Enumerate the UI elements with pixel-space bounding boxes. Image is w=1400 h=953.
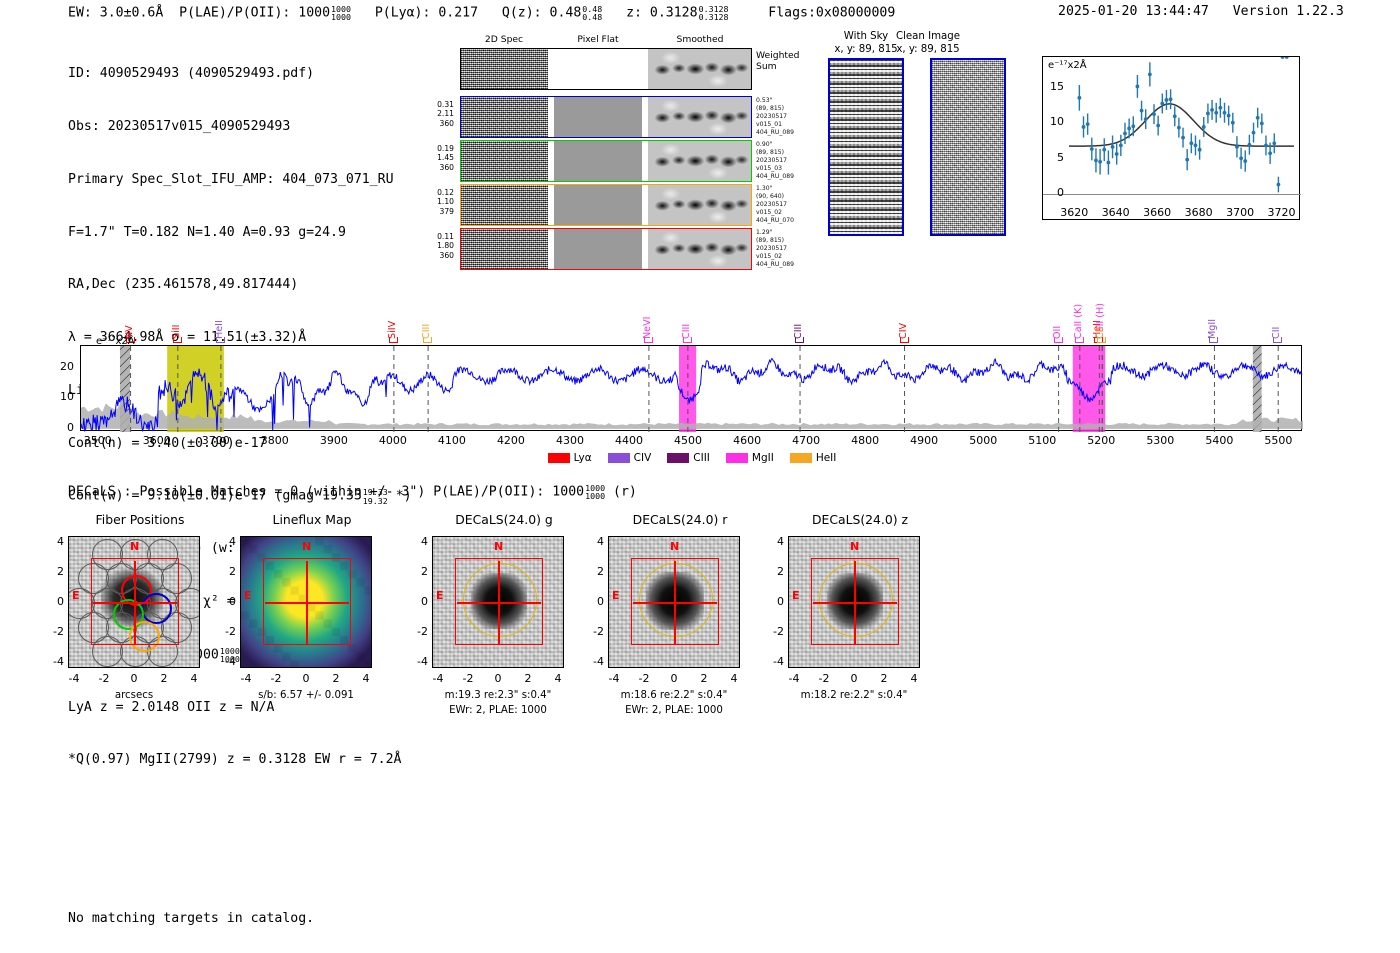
crosshair-vertical: [498, 561, 499, 645]
decals-panel-title: DECaLS(24.0) g: [424, 512, 584, 527]
spec2d-col-header: Pixel Flat: [554, 34, 642, 45]
header-summary-line: EW: 3.0±0.6Å P(LAE)/P(OII): 100010001000…: [68, 4, 895, 21]
spectrum-x-tick: 4000: [369, 434, 417, 447]
header-plae-range: 10001000: [331, 5, 351, 22]
spectrum-line-label: HeII: [214, 305, 225, 339]
spectrum-line-label: SiIV: [387, 305, 398, 339]
spec2d-image: [461, 49, 548, 89]
line-label-bracket: [795, 337, 804, 343]
decals-panel-image: NE: [432, 536, 564, 668]
spectrum-x-tick: 3700: [192, 434, 240, 447]
spectrum-x-tick: 4500: [664, 434, 712, 447]
decals-y-tick: 4: [762, 535, 784, 548]
full-spectrum-plot: [80, 345, 1302, 431]
header-flags: Flags:0x08000009: [768, 5, 895, 20]
legend-item: HeII: [790, 452, 837, 464]
pixel-flat-image: [554, 141, 641, 181]
spec2d-weighted-sum-row: [460, 48, 752, 90]
legend-label: HeII: [816, 452, 837, 464]
line-label-bracket: [1209, 337, 1218, 343]
north-label: N: [302, 540, 311, 553]
spectrum-line-label: OII: [1052, 305, 1063, 339]
decals-y-tick: -4: [406, 655, 428, 668]
legend-swatch: [726, 453, 748, 463]
smoothed-image: [648, 97, 751, 137]
decals-y-tick: 2: [42, 565, 64, 578]
spectrum-line-label: CIII: [681, 305, 692, 339]
decals-panel-caption: s/b: 6.57 +/- 0.091: [196, 690, 416, 701]
footer-note: No matching targets in catalog. Row inte…: [68, 874, 314, 953]
decals-x-tick: -2: [630, 672, 658, 685]
emission-line-fit-plot: [1042, 56, 1300, 220]
header-ew: EW: 3.0±0.6Å: [68, 5, 163, 20]
crosshair-vertical: [134, 561, 135, 645]
info-line: Obs: 20230517v015_4090529493: [68, 118, 412, 136]
legend-label: MgII: [752, 452, 774, 464]
spec2d-image: [461, 97, 548, 137]
line-label-bracket: [683, 337, 692, 343]
line-label-bracket: [389, 337, 398, 343]
spectrum-line-label: MgII: [1207, 305, 1218, 339]
east-label: E: [436, 589, 444, 602]
line-label-bracket: [173, 337, 182, 343]
fiber-row-left-labels: 0.312.11360: [424, 100, 454, 128]
spectrum-x-tick: 4900: [900, 434, 948, 447]
decals-panel-image: NE: [608, 536, 740, 668]
decals-y-tick: 0: [762, 595, 784, 608]
north-label: N: [850, 540, 859, 553]
spectrum-line-label: CII: [1271, 305, 1282, 339]
line-label-bracket: [900, 337, 909, 343]
line-label-bracket: [1097, 337, 1106, 343]
header-z: z: 0.3128: [626, 5, 697, 20]
line-label-bracket: [216, 337, 225, 343]
spec2d-fiber-row: [460, 96, 752, 138]
with-sky-cutout: [828, 58, 904, 236]
decals-x-tick: -4: [60, 672, 88, 685]
decals-x-tick: -4: [600, 672, 628, 685]
spectrum-line-label: CII: [1095, 280, 1106, 339]
spectrum-x-tick: 5000: [959, 434, 1007, 447]
legend-label: CIII: [693, 452, 710, 464]
fiber-row-right-labels: 1.29"(89, 815)20230517v015_02404_RU_089: [756, 229, 816, 269]
decals-x-tick: 4: [352, 672, 380, 685]
legend-label: Lyα: [574, 452, 592, 464]
decals-panel-title: Lineflux Map: [232, 512, 392, 527]
spec2d-image: [461, 141, 548, 181]
spec2d-image: [461, 229, 548, 269]
spectrum-x-tick: 4400: [605, 434, 653, 447]
decals-panel-caption-2: EWr: 2, PLAE: 1000: [564, 705, 784, 716]
header-plae: P(LAE)/P(OII): 1000: [179, 5, 330, 20]
spectrum-y-tick: 0: [52, 421, 74, 434]
decals-x-tick: -4: [424, 672, 452, 685]
spectrum-y-tick: 20: [52, 360, 74, 373]
decals-x-tick: 2: [514, 672, 542, 685]
decals-panel-title: DECaLS(24.0) r: [600, 512, 760, 527]
decals-x-tick: 2: [150, 672, 178, 685]
spectrum-x-tick: 4200: [487, 434, 535, 447]
line-label-bracket: [423, 337, 432, 343]
info-line: F=1.7" T=0.182 N=1.40 A=0.93 g=24.9: [68, 224, 412, 242]
legend-item: CIII: [667, 452, 710, 464]
decals-y-tick: -2: [582, 625, 604, 638]
decals-x-tick: -2: [454, 672, 482, 685]
fit-x-tick: 3660: [1140, 206, 1174, 219]
header-meta: 2025-01-20 13:44:47 Version 1.22.3: [1058, 4, 1344, 19]
decals-plae-range: 10001000: [585, 484, 605, 501]
decals-y-tick: -4: [582, 655, 604, 668]
north-label: N: [130, 540, 139, 553]
legend-item: Lyα: [548, 452, 592, 464]
decals-y-tick: 0: [406, 595, 428, 608]
spectrum-line-label: CIII: [421, 305, 432, 339]
decals-panel-image: NE: [788, 536, 920, 668]
east-label: E: [792, 589, 800, 602]
spectrum-x-tick: 3800: [251, 434, 299, 447]
clean-image-title: Clean Imagex, y: 89, 815: [868, 31, 988, 56]
crosshair-vertical: [854, 561, 855, 645]
spectrum-line-label: SiII: [171, 305, 182, 339]
line-label-bracket: [644, 337, 653, 343]
decals-y-tick: 2: [762, 565, 784, 578]
fit-x-tick: 3700: [1223, 206, 1257, 219]
fit-x-tick: 3640: [1099, 206, 1133, 219]
crosshair-vertical: [674, 561, 675, 645]
spectrum-x-tick: 5200: [1077, 434, 1125, 447]
fit-y-tick: 10: [1046, 115, 1064, 128]
spectrum-x-tick: 4300: [546, 434, 594, 447]
pixel-flat-image: [554, 97, 641, 137]
decals-x-tick: 2: [870, 672, 898, 685]
fit-unit-label: e⁻¹⁷x2Å: [1048, 60, 1087, 71]
spec2d-fiber-row: [460, 228, 752, 270]
decals-y-tick: 4: [42, 535, 64, 548]
decals-y-tick: 2: [214, 565, 236, 578]
decals-y-tick: 2: [582, 565, 604, 578]
info-mgii: *Q(0.97) MgII(2799) z = 0.3128 EW r = 7.…: [68, 751, 412, 769]
north-label: N: [670, 540, 679, 553]
decals-y-tick: -2: [406, 625, 428, 638]
decals-panel-fibers: NE: [68, 536, 200, 668]
spectrum-x-tick: 3900: [310, 434, 358, 447]
header-qz: Q(z): 0.48: [502, 5, 581, 20]
decals-panel-heatmap: NE: [240, 536, 372, 668]
spectrum-line-label: CaII (K): [1073, 294, 1084, 339]
smoothed-image: [648, 49, 751, 89]
spectrum-x-tick: 3600: [133, 434, 181, 447]
fit-x-tick: 3680: [1182, 206, 1216, 219]
decals-panel-caption: m:18.2 re:2.2" s:0.4": [744, 690, 964, 701]
spectrum-x-tick: 3500: [74, 434, 122, 447]
decals-x-tick: 4: [720, 672, 748, 685]
fiber-row-left-labels: 0.111.80360: [424, 232, 454, 260]
decals-y-tick: 4: [214, 535, 236, 548]
spectrum-y-tick: 10: [52, 390, 74, 403]
smoothed-image: [648, 141, 751, 181]
decals-x-tick: 0: [840, 672, 868, 685]
decals-panel-title: DECaLS(24.0) z: [780, 512, 940, 527]
decals-y-tick: 4: [406, 535, 428, 548]
decals-y-tick: 0: [42, 595, 64, 608]
decals-y-tick: 2: [406, 565, 428, 578]
decals-header: DECaLS : Possible Matches = 0 (within +/…: [68, 483, 637, 500]
smoothed-image: [648, 185, 751, 225]
smoothed-image: [648, 229, 751, 269]
spectrum-x-tick: 4700: [782, 434, 830, 447]
decals-x-tick: 2: [690, 672, 718, 685]
spectrum-x-tick: 5400: [1195, 434, 1243, 447]
fiber-row-right-labels: 0.90"(89, 815)20230517v015_03404_RU_089: [756, 141, 816, 181]
decals-x-tick: 4: [900, 672, 928, 685]
fiber-row-right-labels: 1.30"(90, 640)20230517v015_02404_RU_070: [756, 185, 816, 225]
decals-y-tick: 0: [214, 595, 236, 608]
fit-x-tick: 3720: [1265, 206, 1299, 219]
legend-label: CIV: [634, 452, 652, 464]
footer-line-1: No matching targets in catalog.: [68, 910, 314, 928]
spec2d-image: [461, 185, 548, 225]
spectrum-line-label: NV: [124, 305, 135, 339]
fit-y-tick: 5: [1046, 151, 1064, 164]
decals-x-tick: 0: [484, 672, 512, 685]
decals-y-tick: -2: [42, 625, 64, 638]
decals-x-tick: 4: [544, 672, 572, 685]
spec2d-panel: 2D Spec Pixel Flat Smoothed Weighted Sum…: [460, 34, 800, 259]
header-plya: P(Lyα): 0.217: [375, 5, 478, 20]
decals-y-tick: 4: [582, 535, 604, 548]
decals-y-tick: -4: [214, 655, 236, 668]
header-z-range: 0.31280.3128: [699, 5, 729, 22]
decals-x-tick: 2: [322, 672, 350, 685]
legend-swatch: [790, 453, 812, 463]
east-label: E: [244, 589, 252, 602]
legend-item: CIV: [608, 452, 652, 464]
pixel-flat-image: [554, 229, 641, 269]
fiber-row-left-labels: 0.121.10379: [424, 188, 454, 216]
line-label-bracket: [1054, 337, 1063, 343]
spectrum-x-tick: 5300: [1136, 434, 1184, 447]
spectrum-x-tick: 4100: [428, 434, 476, 447]
legend-swatch: [667, 453, 689, 463]
spectrum-line-label: NeVI: [642, 305, 653, 339]
decals-x-tick: 0: [292, 672, 320, 685]
spectrum-line-label: CIV: [898, 305, 909, 339]
fit-y-tick: 15: [1046, 80, 1064, 93]
decals-x-tick: 4: [180, 672, 208, 685]
decals-x-tick: 0: [120, 672, 148, 685]
header-version: Version 1.22.3: [1233, 4, 1344, 19]
spec2d-col-header: Smoothed: [648, 34, 752, 45]
spec2d-col-header: 2D Spec: [460, 34, 548, 45]
north-label: N: [494, 540, 503, 553]
crosshair-vertical: [306, 561, 307, 645]
info-line: RA,Dec (235.461578,49.817444): [68, 276, 412, 294]
decals-y-tick: 0: [582, 595, 604, 608]
decals-y-tick: -2: [214, 625, 236, 638]
decals-y-tick: -4: [762, 655, 784, 668]
spectrum-x-tick: 4600: [723, 434, 771, 447]
decals-x-tick: -2: [90, 672, 118, 685]
line-label-bracket: [1075, 337, 1084, 343]
spectrum-x-tick: 5100: [1018, 434, 1066, 447]
decals-x-tick: -4: [232, 672, 260, 685]
east-label: E: [612, 589, 620, 602]
legend-swatch: [548, 453, 570, 463]
info-line: ID: 4090529493 (4090529493.pdf): [68, 65, 412, 83]
decals-x-tick: -2: [810, 672, 838, 685]
spectrum-legend: LyαCIVCIIIMgIIHeII: [0, 452, 1400, 464]
legend-swatch: [608, 453, 630, 463]
fit-x-tick: 3620: [1057, 206, 1091, 219]
pixel-flat-image: [554, 185, 641, 225]
east-label: E: [72, 589, 80, 602]
decals-y-tick: -4: [42, 655, 64, 668]
header-qz-range: 0.480.48: [582, 5, 602, 22]
fiber-row-left-labels: 0.191.45360: [424, 144, 454, 172]
spec2d-fiber-row: [460, 184, 752, 226]
decals-x-tick: 0: [660, 672, 688, 685]
spec2d-fiber-row: [460, 140, 752, 182]
fiber-row-right-labels: 0.53"(89, 815)20230517v015_01404_RU_089: [756, 97, 816, 137]
clean-image-cutout: [930, 58, 1006, 236]
line-label-bracket: [1273, 337, 1282, 343]
decals-x-tick: -2: [262, 672, 290, 685]
decals-panel-title: Fiber Positions: [60, 512, 220, 527]
legend-item: MgII: [726, 452, 774, 464]
spectrum-unit-label: e⁻¹⁷x2Å: [96, 336, 135, 347]
info-line: Primary Spec_Slot_IFU_AMP: 404_073_071_R…: [68, 171, 412, 189]
info-redshifts: LyA z = 2.0148 OII z = N/A: [68, 699, 412, 717]
spectrum-x-tick: 5500: [1254, 434, 1302, 447]
decals-x-tick: -4: [780, 672, 808, 685]
spectrum-line-label: CIII: [793, 305, 804, 339]
pixel-flat-image: [554, 49, 641, 89]
spectrum-x-tick: 4800: [841, 434, 889, 447]
weighted-sum-label: Weighted Sum: [756, 50, 800, 72]
decals-y-tick: -2: [762, 625, 784, 638]
header-timestamp: 2025-01-20 13:44:47: [1058, 4, 1209, 19]
fit-y-tick: 0: [1046, 186, 1064, 199]
